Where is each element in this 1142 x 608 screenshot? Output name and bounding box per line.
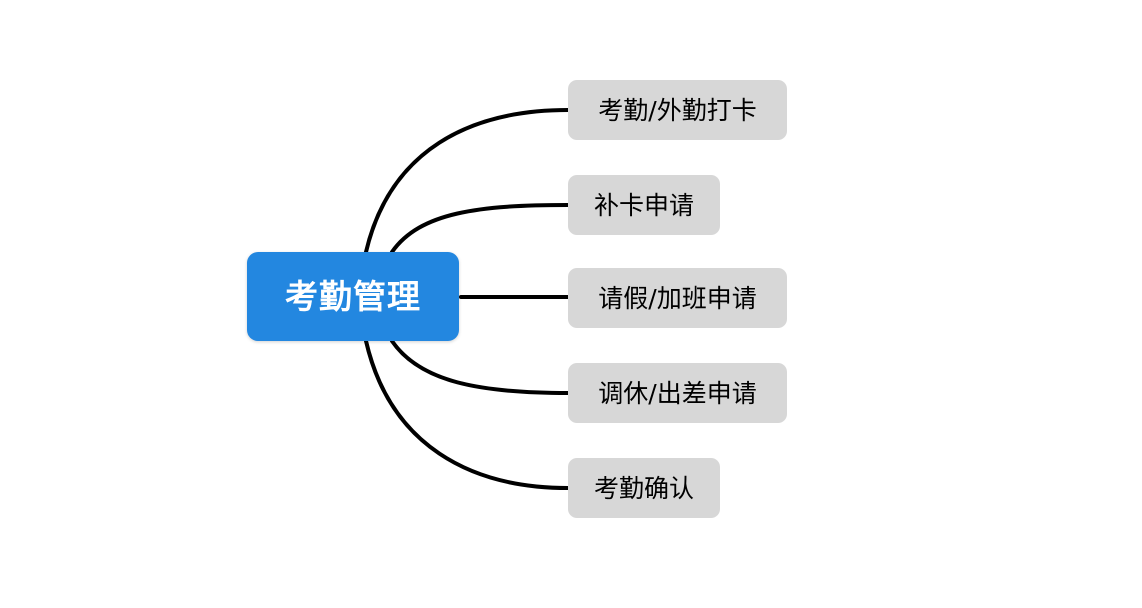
mindmap-canvas: 考勤管理 考勤/外勤打卡 补卡申请 请假/加班申请 调休/出差申请 考勤确认	[0, 0, 1142, 608]
child-node-attendance-punch[interactable]: 考勤/外勤打卡	[568, 80, 787, 140]
child-node-card-replacement-request[interactable]: 补卡申请	[568, 175, 720, 235]
connector-to-child-5	[366, 341, 568, 488]
root-node-attendance-management[interactable]: 考勤管理	[247, 252, 459, 341]
connector-to-child-4	[392, 341, 568, 393]
child-node-label: 调休/出差申请	[598, 381, 756, 406]
child-node-label: 补卡申请	[594, 193, 694, 218]
child-node-label: 请假/加班申请	[598, 286, 756, 311]
root-node-label: 考勤管理	[285, 280, 421, 313]
child-node-attendance-confirmation[interactable]: 考勤确认	[568, 458, 720, 518]
child-node-time-off-travel-request[interactable]: 调休/出差申请	[568, 363, 787, 423]
child-node-label: 考勤/外勤打卡	[598, 98, 756, 123]
connector-to-child-2	[392, 205, 568, 252]
connector-to-child-1	[366, 110, 568, 252]
child-node-label: 考勤确认	[594, 476, 694, 501]
child-node-leave-overtime-request[interactable]: 请假/加班申请	[568, 268, 787, 328]
